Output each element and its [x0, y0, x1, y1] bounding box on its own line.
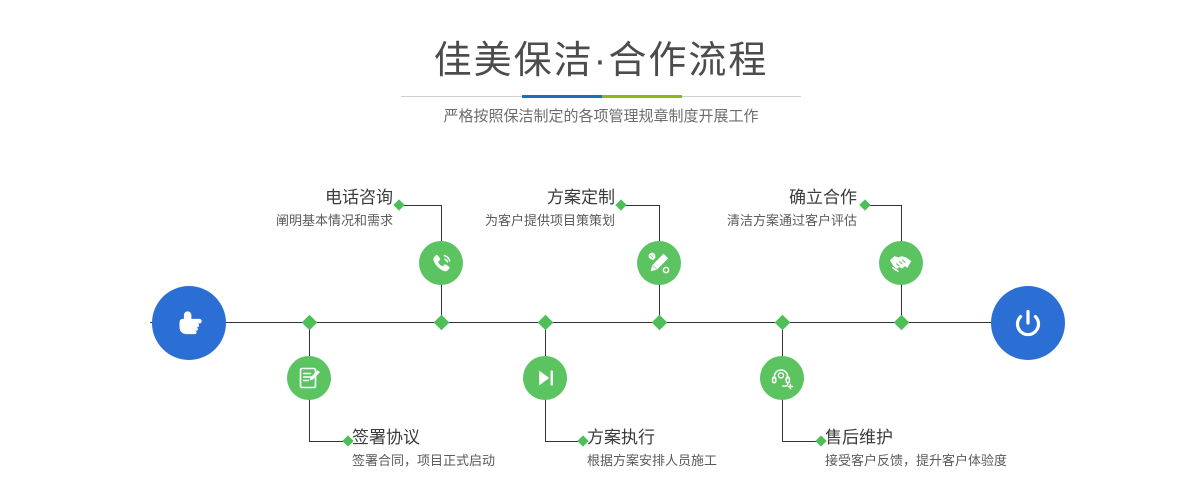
step-node	[760, 356, 804, 400]
connector-lead-dot	[859, 199, 870, 210]
timeline-axis	[150, 322, 1052, 323]
step-label: 确立合作 清洁方案通过客户评估	[620, 186, 857, 232]
process-timeline: 电话咨询 阐明基本情况和需求 签署协议 签署合同，项目正式启动	[0, 0, 1202, 502]
step-label: 电话咨询 阐明基本情况和需求	[150, 186, 393, 232]
step-node	[287, 356, 331, 400]
step-node	[879, 241, 923, 285]
phone-call-icon	[427, 249, 455, 277]
step-title: 确立合作	[620, 186, 857, 210]
step-title: 方案定制	[380, 186, 615, 210]
step-desc: 接受客户反馈，提升客户体验度	[825, 450, 1155, 472]
timeline-marker	[434, 315, 450, 331]
step-title: 售后维护	[825, 426, 1155, 450]
step-desc: 清洁方案通过客户评估	[620, 210, 857, 232]
step-node	[637, 241, 681, 285]
timeline-marker	[302, 315, 318, 331]
play-execute-icon	[531, 364, 559, 392]
handshake-icon	[887, 249, 915, 277]
timeline-end-endpoint	[991, 286, 1065, 360]
pointing-hand-icon	[169, 303, 209, 343]
connector-lead	[865, 205, 902, 206]
connector-lead	[309, 441, 347, 442]
pencil-ruler-icon	[645, 249, 673, 277]
step-desc: 阐明基本情况和需求	[150, 210, 393, 232]
timeline-marker	[775, 315, 791, 331]
timeline-marker	[894, 315, 910, 331]
timeline-marker	[652, 315, 668, 331]
customer-service-icon	[768, 364, 796, 392]
timeline-start-endpoint	[152, 286, 226, 360]
step-node	[419, 241, 463, 285]
step-label: 方案定制 为客户提供项目策策划	[380, 186, 615, 232]
power-icon	[1008, 303, 1048, 343]
step-title: 电话咨询	[150, 186, 393, 210]
document-pen-icon	[295, 364, 323, 392]
step-desc: 为客户提供项目策策划	[380, 210, 615, 232]
timeline-marker	[538, 315, 554, 331]
step-label: 售后维护 接受客户反馈，提升客户体验度	[825, 426, 1155, 472]
step-node	[523, 356, 567, 400]
